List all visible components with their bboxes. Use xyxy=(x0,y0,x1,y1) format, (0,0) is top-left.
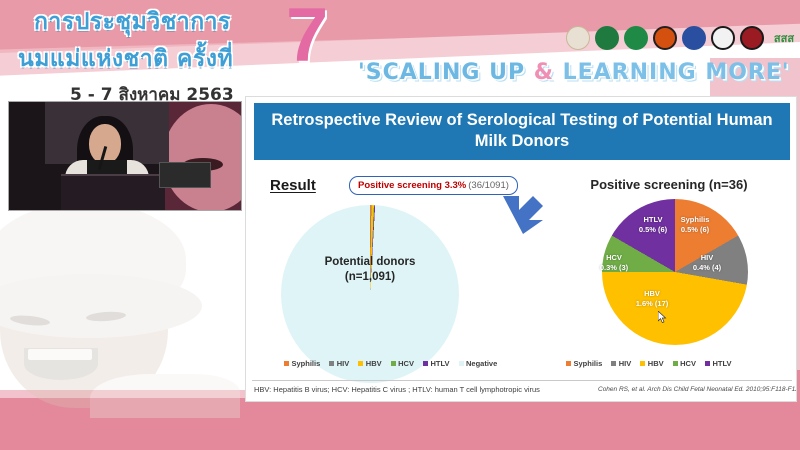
edition-number: 7 xyxy=(286,0,328,74)
slice-hcv-value: 0.3% (3) xyxy=(592,263,636,273)
legend-item-syphilis: Syphilis xyxy=(284,359,320,368)
legend-item-hcv: HCV xyxy=(391,359,414,368)
legend-label-syphilis: Syphilis xyxy=(292,359,321,368)
legend2-item-syphilis: Syphilis xyxy=(566,359,602,368)
slice-hcv-name: HCV xyxy=(592,253,636,263)
legend-label-hcv: HCV xyxy=(398,359,414,368)
legend2-item-hcv: HCV xyxy=(673,359,696,368)
legend-label-hbv: HBV xyxy=(366,359,382,368)
callout-highlight-text: Positive screening 3.3% xyxy=(358,180,466,191)
legend-item-hiv: HIV xyxy=(329,359,349,368)
conference-title-thai: การประชุมวิชาการ นมแม่แห่งชาติ ครั้งที่ … xyxy=(18,4,318,108)
slide-screenshot: การประชุมวิชาการ นมแม่แห่งชาติ ครั้งที่ … xyxy=(0,0,800,450)
legend2-swatch-htlv xyxy=(705,361,710,366)
blue-arrow-icon xyxy=(499,190,547,236)
legend-swatch-hbv xyxy=(358,361,363,366)
legend2-swatch-hiv xyxy=(611,361,616,366)
tagline-part-1: 'SCALING UP xyxy=(358,60,534,85)
pie-slice-label-htlv: HTLV 0.5% (6) xyxy=(628,215,678,234)
watermark-child-photo xyxy=(0,196,246,418)
logo-green-circle-1-icon xyxy=(595,26,619,50)
logo-orange-seal-icon xyxy=(653,26,677,50)
slice-hiv-name: HIV xyxy=(684,253,730,263)
pie-slice-label-hbv: HBV 1.6% (17) xyxy=(624,289,680,308)
legend-label-hiv: HIV xyxy=(337,359,350,368)
sponsor-logos: สสส xyxy=(566,26,799,50)
slice-hiv-value: 0.4% (4) xyxy=(684,263,730,273)
slide-title: Retrospective Review of Serological Test… xyxy=(254,103,790,160)
thai-title-line-1: การประชุมวิชาการ xyxy=(34,4,318,40)
slice-hbv-name: HBV xyxy=(624,289,680,299)
legend-swatch-hcv xyxy=(391,361,396,366)
logo-black-circle-icon xyxy=(711,26,735,50)
mouse-cursor-icon xyxy=(658,311,668,324)
presentation-slide: Retrospective Review of Serological Test… xyxy=(245,96,797,402)
legend-item-hbv: HBV xyxy=(358,359,381,368)
footer-divider xyxy=(252,380,792,381)
legend-label-htlv: HTLV xyxy=(430,359,449,368)
speaker-video-thumbnail[interactable] xyxy=(8,101,242,211)
legend-swatch-negative xyxy=(459,361,464,366)
legend2-swatch-hcv xyxy=(673,361,678,366)
tagline-ampersand: & xyxy=(534,60,554,85)
legend-potential-donors: Syphilis HIV HBV HCV HTLV Negative xyxy=(284,359,497,368)
legend2-label-hbv: HBV xyxy=(648,359,664,368)
potential-donors-label-line-2: (n=1,091) xyxy=(281,270,459,285)
logo-dark-red-seal-icon xyxy=(740,26,764,50)
legend2-item-hiv: HIV xyxy=(611,359,631,368)
slice-htlv-value: 0.5% (6) xyxy=(628,225,678,235)
legend2-label-hcv: HCV xyxy=(680,359,696,368)
legend2-label-htlv: HTLV xyxy=(712,359,731,368)
thai-title-line-2: นมแม่แห่งชาติ ครั้งที่ xyxy=(18,41,318,77)
legend-label-negative: Negative xyxy=(466,359,497,368)
potential-donors-pie-label: Potential donors (n=1,091) xyxy=(281,255,459,285)
legend2-swatch-syphilis xyxy=(566,361,571,366)
slice-htlv-name: HTLV xyxy=(628,215,678,225)
logo-thaihealth-text: สสส xyxy=(774,34,794,43)
legend-swatch-hiv xyxy=(329,361,334,366)
legend-positive-screening: Syphilis HIV HBV HCV HTLV xyxy=(566,359,732,368)
legend2-item-htlv: HTLV xyxy=(705,359,732,368)
pie-slice-label-hcv: HCV 0.3% (3) xyxy=(592,253,636,272)
legend-swatch-syphilis xyxy=(284,361,289,366)
legend2-label-hiv: HIV xyxy=(619,359,632,368)
logo-royal-emblem-icon xyxy=(566,26,590,50)
logo-green-circle-2-icon xyxy=(624,26,648,50)
legend-item-negative: Negative xyxy=(459,359,498,368)
legend-swatch-htlv xyxy=(423,361,428,366)
tagline-part-2: LEARNING MORE' xyxy=(554,60,790,85)
positive-screening-callout: Positive screening 3.3%(36/1091) xyxy=(349,176,518,195)
conference-tagline: 'SCALING UP & LEARNING MORE' xyxy=(358,60,790,85)
result-heading: Result xyxy=(270,177,316,194)
legend-item-htlv: HTLV xyxy=(423,359,450,368)
logo-thaihealth-icon: สสส xyxy=(769,26,799,50)
slice-hbv-value: 1.6% (17) xyxy=(624,299,680,309)
potential-donors-pie-chart xyxy=(281,205,459,383)
legend2-swatch-hbv xyxy=(640,361,645,366)
slide-footnote: HBV: Hepatitis B virus; HCV: Hepatitis C… xyxy=(254,385,540,394)
pie-slice-label-hiv: HIV 0.4% (4) xyxy=(684,253,730,272)
logo-blue-crest-icon xyxy=(682,26,706,50)
legend2-item-hbv: HBV xyxy=(640,359,663,368)
positive-screening-pie-title: Positive screening (n=36) xyxy=(546,177,792,192)
slide-citation: Cohen RS, et al. Arch Dis Child Fetal Ne… xyxy=(598,386,797,393)
legend2-label-syphilis: Syphilis xyxy=(574,359,603,368)
potential-donors-label-line-1: Potential donors xyxy=(281,255,459,270)
